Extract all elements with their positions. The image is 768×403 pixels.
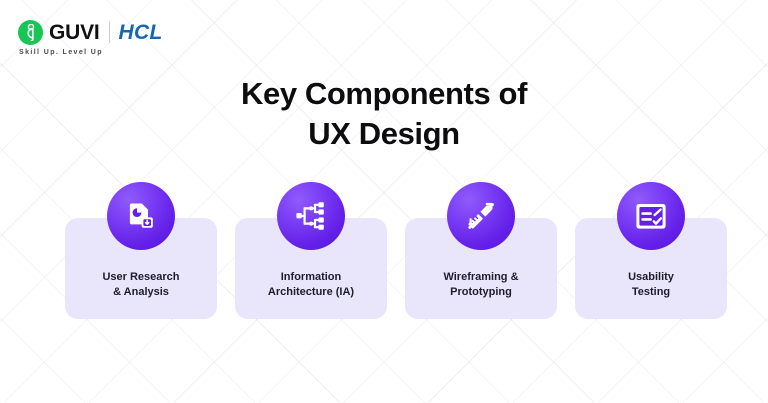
guvi-wordmark: GUVI xyxy=(49,22,100,43)
card-label-line-1: Usability xyxy=(628,270,674,286)
card-label: Usability Testing xyxy=(628,270,674,301)
brand-divider xyxy=(109,21,110,43)
page-title: Key Components of UX Design xyxy=(0,74,768,153)
hcl-wordmark: HCL xyxy=(119,22,163,43)
card-label-line-2: Architecture (IA) xyxy=(268,285,354,301)
card-label-line-2: Testing xyxy=(628,285,674,301)
card-label-line-1: Wireframing & xyxy=(443,270,518,286)
brand-logo-row: GUVI HCL xyxy=(18,18,163,46)
card-wireframing-prototyping[interactable]: Wireframing & Prototyping xyxy=(405,218,557,319)
document-pie-chart-icon xyxy=(107,182,175,250)
card-label-line-2: Prototyping xyxy=(443,285,518,301)
card-label-line-1: User Research xyxy=(102,270,179,286)
guvi-g-glyph-icon xyxy=(18,20,43,45)
card-usability-testing[interactable]: Usability Testing xyxy=(575,218,727,319)
card-label: User Research & Analysis xyxy=(102,270,179,301)
slide-canvas: GUVI HCL Skill Up. Level Up Key Componen… xyxy=(0,0,768,403)
card-label: Information Architecture (IA) xyxy=(268,270,354,301)
sitemap-hierarchy-icon xyxy=(277,182,345,250)
brand-tagline: Skill Up. Level Up xyxy=(19,49,163,56)
card-label-line-1: Information xyxy=(268,270,354,286)
brand-header: GUVI HCL Skill Up. Level Up xyxy=(18,18,163,56)
title-line-2: UX Design xyxy=(0,114,768,154)
card-label-line-2: & Analysis xyxy=(102,285,179,301)
guvi-logo: GUVI xyxy=(18,20,100,45)
component-card-row: User Research & Analysis xyxy=(65,218,733,319)
title-line-1: Key Components of xyxy=(0,74,768,114)
pencil-ruler-icon xyxy=(447,182,515,250)
card-user-research[interactable]: User Research & Analysis xyxy=(65,218,217,319)
card-label: Wireframing & Prototyping xyxy=(443,270,518,301)
checklist-form-icon xyxy=(617,182,685,250)
card-information-architecture[interactable]: Information Architecture (IA) xyxy=(235,218,387,319)
